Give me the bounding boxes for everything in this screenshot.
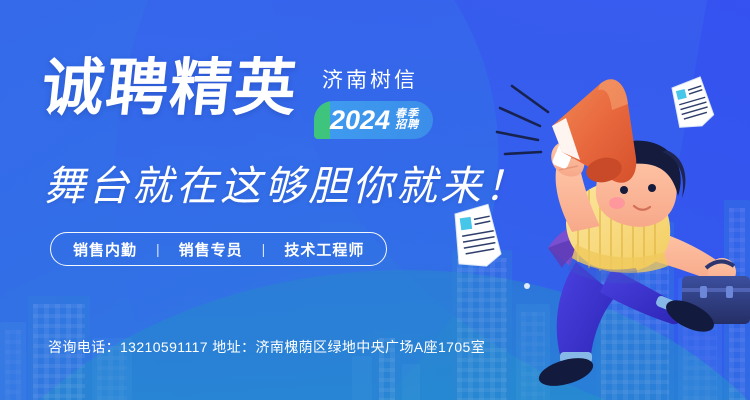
brand-stack: 济南树信 2024 春季 招聘 [314,58,433,139]
year-label: 2024 [330,107,390,134]
sparkle-dot [660,190,665,195]
year-badge: 2024 春季 招聘 [314,101,433,139]
banner-content: 诚聘精英 济南树信 2024 春季 招聘 舞台就在这够胆你就来！ 销售内勤 | … [42,0,562,400]
page-title: 诚聘精英 [39,58,302,120]
subtitle: 舞台就在这够胆你就来！ [44,152,528,212]
company-name: 济南树信 [322,64,418,94]
job-item-2[interactable]: 销售专员 [179,239,243,260]
building [678,278,722,400]
season-line-2: 招聘 [395,120,419,131]
badge-green-accent [314,101,330,139]
building [724,200,750,400]
building [0,322,26,400]
headline-row: 诚聘精英 济南树信 2024 春季 招聘 [42,58,433,139]
job-list-pill: 销售内勤 | 销售专员 | 技术工程师 [50,232,387,266]
job-item-3[interactable]: 技术工程师 [284,239,364,260]
building [596,222,674,400]
season-label: 春季 招聘 [395,109,419,131]
recruitment-banner: 诚聘精英 济南树信 2024 春季 招聘 舞台就在这够胆你就来！ 销售内勤 | … [0,0,750,400]
job-item-1[interactable]: 销售内勤 [73,239,137,260]
contact-info: 咨询电话：13210591117 地址：济南槐荫区绿地中央广场A座1705室 [48,337,485,357]
job-separator: | [262,241,266,257]
job-separator: | [156,241,160,257]
